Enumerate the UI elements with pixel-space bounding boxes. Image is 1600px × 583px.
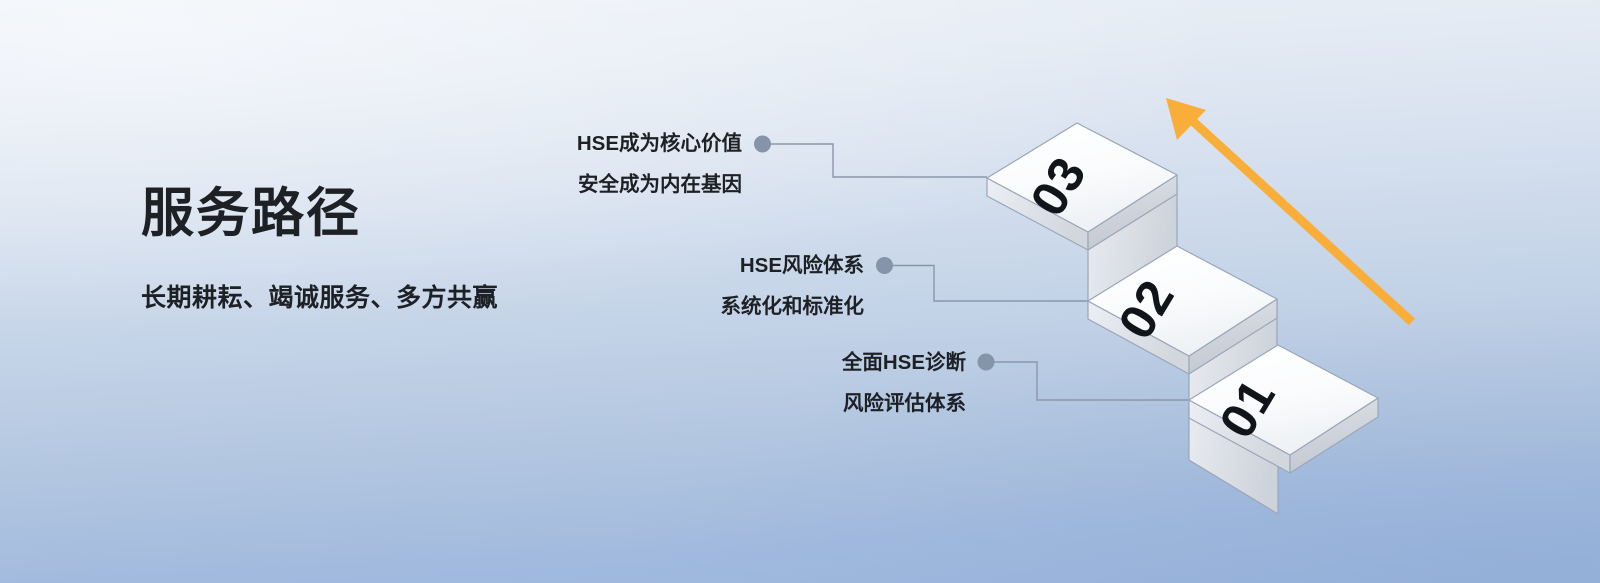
slide-canvas: 服务路径 长期耕耘、竭诚服务、多方共赢 HSE成为核心价值 安全成为内在基因 H… bbox=[0, 0, 1600, 583]
upward-growth-arrow-icon bbox=[1166, 98, 1412, 322]
arrow-layer bbox=[0, 0, 1600, 583]
arrow-shaft bbox=[1185, 114, 1412, 322]
